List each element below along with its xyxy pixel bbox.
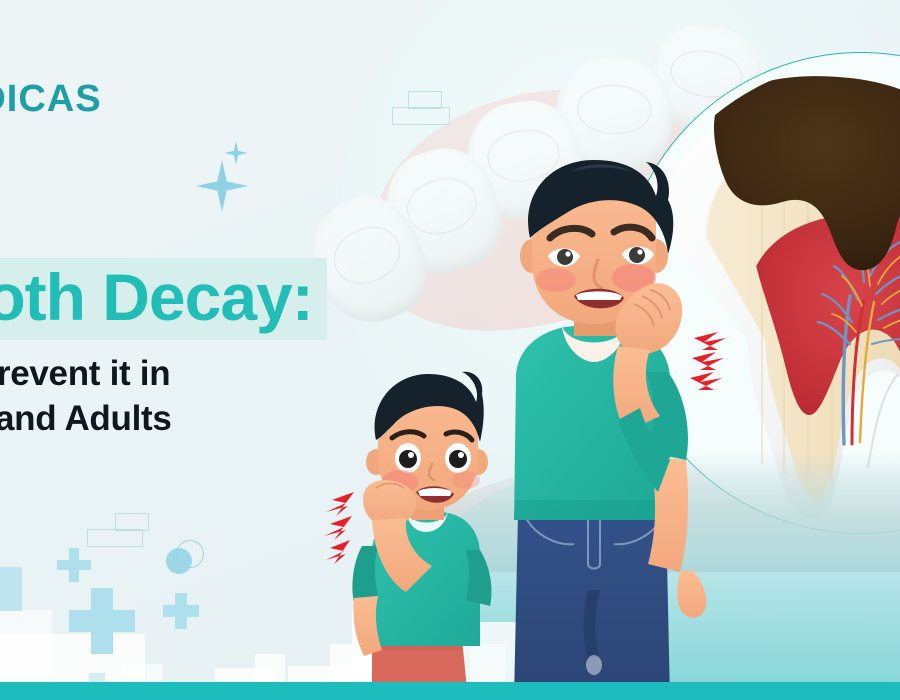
title-text: ooth Decay: [0,260,313,334]
medical-cross-icon [163,593,199,629]
filled-square [0,567,22,611]
outline-circle [176,540,204,568]
subtitle-line-1: to Prevent it in [0,352,172,397]
outline-rectangle [392,107,450,125]
page-subtitle: to Prevent it in ren and Adults [0,352,172,442]
poster-canvas: EDICAS ooth Decay: to Prevent it in ren … [0,0,900,700]
subtitle-line-2: ren and Adults [0,397,172,442]
adult-hand-right [677,570,706,618]
adult-pain-zigzag [690,332,726,390]
brand-logo[interactable]: EDICAS [0,78,102,121]
page-title: ooth Decay: [0,258,327,340]
adult-character [470,160,770,700]
medical-cross-icon [69,588,135,654]
outline-rectangle [87,529,143,547]
medical-cross-icon [57,548,91,582]
child-pain-zigzag [324,492,354,564]
bottom-accent-bar [0,682,900,700]
title-highlight: ooth Decay: [0,258,327,340]
